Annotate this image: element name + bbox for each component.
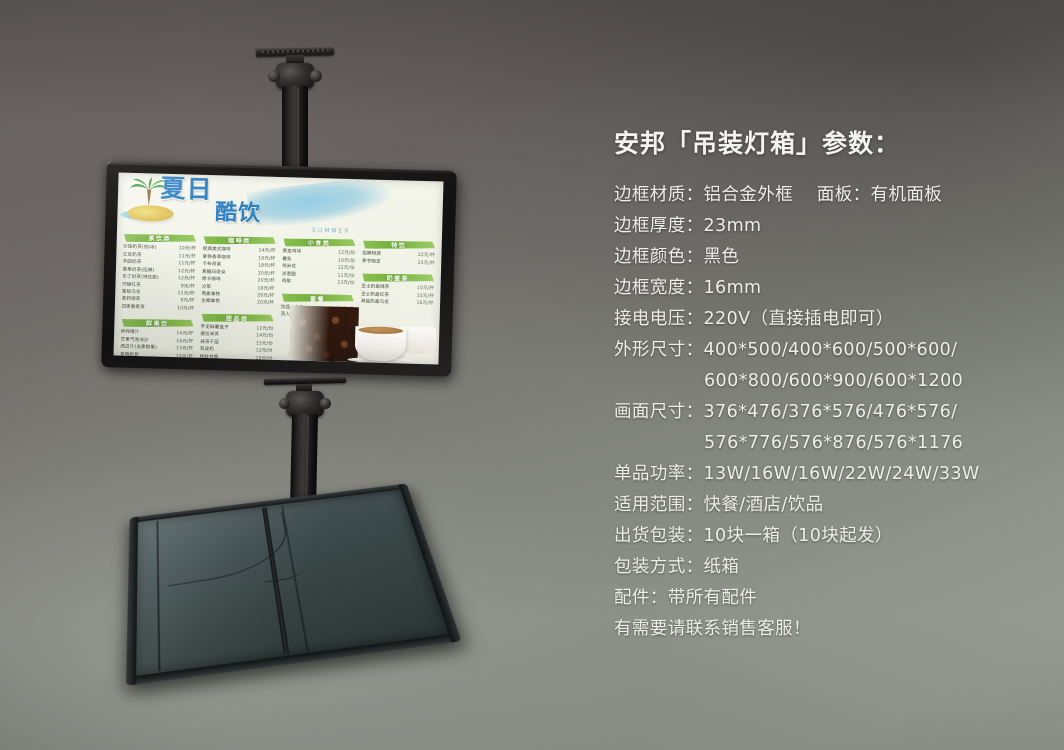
menu-item-name: 海盐奶盖乌龙 [361, 298, 389, 306]
pivot-knob-left-icon [268, 70, 280, 82]
menu-item-price: 20元/杯 [253, 300, 274, 308]
menu-category-label: 套餐 [310, 293, 325, 302]
spec-line: 边框厚度：23mm [614, 211, 1044, 242]
spec-line: 接电电压：220V（直接插电即可） [614, 304, 1044, 335]
photo-fade-overlay [289, 305, 440, 364]
spec-line: 边框宽度：16mm [614, 273, 1044, 304]
spec-line-list: 边框材质：铝合金外框 面板：有机面板边框厚度：23mm边框颜色：黑色边框宽度：1… [614, 180, 1044, 645]
panel-sheen [136, 489, 449, 675]
menu-item-list: 招牌特调22元/杯季节限定25元/杯 [362, 251, 435, 268]
menu-category-label: 茶饮类 [148, 234, 171, 244]
menu-item-price: 16元/杯 [412, 300, 433, 308]
menu-item-row: 生椰拿铁20元/杯 [201, 298, 274, 307]
menu-item-price: 10元/杯 [173, 305, 194, 313]
menu-item-list: 珍珠奶茶(热/冰)10元/杯红豆奶茶11元/杯芋圆奶茶11元/杯椰果奶茶(招牌)… [121, 244, 196, 313]
menu-title-accent: 酷饮 [215, 203, 262, 226]
menu-item-name: 四季春青茶 [121, 303, 145, 311]
water-splash-graphic [246, 175, 392, 229]
menu-category-header: 小食类 [283, 237, 356, 248]
pivot-knob-right-icon [310, 70, 322, 82]
menu-category: 茶饮类珍珠奶茶(热/冰)10元/杯红豆奶茶11元/杯芋圆奶茶11元/杯椰果奶茶(… [121, 233, 196, 313]
menu-subtitle: SUMMER [312, 226, 351, 234]
menu-category: 咖啡类经典美式咖啡14元/杯拿铁香草咖啡18元/杯卡布奇诺18元/杯焦糖玛奇朵2… [201, 235, 276, 308]
lower-pivot-knob-left-icon [279, 398, 290, 409]
lightbox-rear-panel [126, 483, 462, 685]
menu-category-label: 鲜果饮 [146, 319, 169, 329]
spec-line: 画面尺寸：376*476/376*576/476*576/ [614, 397, 1044, 428]
menu-category-label: 奶盖茶 [386, 273, 409, 283]
menu-item-row: 四季春青茶10元/杯 [121, 303, 194, 312]
spec-line: 适用范围：快餐/酒店/饮品 [614, 490, 1044, 521]
spec-line: 包装方式：纸箱 [614, 552, 1044, 583]
menu-category: 甜品类芋泥麻薯盒子12元/份提拉米苏14元/份抹茶千层15元/份双皮奶12元/份… [200, 313, 274, 363]
spec-line: 边框颜色：黑色 [614, 242, 1044, 273]
menu-item-row: 季节限定25元/杯 [362, 258, 435, 267]
menu-hero-banner: 夏日 酷饮 SUMMER [117, 172, 444, 243]
spec-line: 有需要请联系销售客服！ [614, 614, 1044, 645]
menu-title-main: 夏日 [160, 176, 213, 202]
menu-item-list: 黄金鸡块12元/份薯条10元/份鸡米花12元/份洋葱圈11元/份鸡柳13元/份 [281, 248, 355, 287]
menu-category-header: 套餐 [281, 293, 354, 304]
spec-title: 安邦「吊装灯箱」参数： [614, 124, 1044, 160]
menu-item-name: 生椰拿铁 [201, 298, 220, 306]
menu-item-list: 芝士奶盖绿茶15元/杯芝士奶盖红茶15元/杯海盐奶盖乌龙16元/杯 [361, 284, 434, 308]
menu-item-row: 海盐奶盖乌龙16元/杯 [361, 298, 434, 307]
menu-board-graphic: 夏日 酷饮 SUMMER 茶饮类珍珠奶茶(热/冰)10元/杯红豆奶茶11元/杯芋… [114, 172, 444, 364]
lightbox-front-panel: 夏日 酷饮 SUMMER 茶饮类珍珠奶茶(热/冰)10元/杯红豆奶茶11元/杯芋… [101, 161, 457, 377]
menu-column: 咖啡类经典美式咖啡14元/杯拿铁香草咖啡18元/杯卡布奇诺18元/杯焦糖玛奇朵2… [200, 235, 276, 358]
spec-line: 外形尺寸：400*500/400*600/500*600/ [614, 335, 1044, 366]
island-graphic [127, 205, 173, 222]
menu-category-label: 甜品类 [226, 313, 249, 323]
menu-category-header: 鲜果饮 [121, 318, 194, 329]
spec-line: 576*776/576*876/576*1176 [614, 428, 1044, 459]
menu-category: 奶盖茶芝士奶盖绿茶15元/杯芝士奶盖红茶15元/杯海盐奶盖乌龙16元/杯 [361, 273, 435, 308]
menu-category-label: 特饮 [391, 241, 406, 250]
product-photo-canvas: 夏日 酷饮 SUMMER 茶饮类珍珠奶茶(热/冰)10元/杯红豆奶茶11元/杯芋… [0, 0, 1064, 750]
panel-face [136, 489, 449, 675]
spec-line: 单品功率：13W/16W/16W/22W/24W/33W [614, 459, 1044, 490]
menu-column: 茶饮类珍珠奶茶(热/冰)10元/杯红豆奶茶11元/杯芋圆奶茶11元/杯椰果奶茶(… [120, 233, 196, 356]
menu-category-header: 咖啡类 [203, 235, 276, 246]
lower-pivot-knob-right-icon [320, 398, 331, 409]
menu-item-price: 25元/杯 [414, 260, 435, 268]
menu-category-label: 小食类 [308, 238, 331, 248]
menu-category-header: 茶饮类 [123, 233, 196, 244]
menu-item-name: 季节限定 [362, 258, 381, 266]
spec-line: 配件：带所有配件 [614, 583, 1044, 614]
menu-category-header: 奶盖茶 [361, 273, 434, 284]
specification-panel: 安邦「吊装灯箱」参数： 边框材质：铝合金外框 面板：有机面板边框厚度：23mm边… [614, 124, 1044, 645]
menu-item-list: 经典美式咖啡14元/杯拿铁香草咖啡18元/杯卡布奇诺18元/杯焦糖玛奇朵20元/… [201, 246, 275, 308]
menu-item-price: 13元/份 [333, 280, 354, 288]
menu-item-name: 鸡柳 [281, 278, 291, 286]
menu-category: 小食类黄金鸡块12元/份薯条10元/份鸡米花12元/份洋葱圈11元/份鸡柳13元… [281, 237, 355, 287]
menu-item-row: 鸡柳13元/份 [281, 278, 354, 287]
menu-item-list: 芋泥麻薯盒子12元/份提拉米苏14元/份抹茶千层15元/份双皮奶12元/份杨枝甘… [200, 324, 274, 363]
menu-category-label: 咖啡类 [228, 236, 251, 246]
coffee-photo [289, 305, 440, 364]
menu-category-header: 甜品类 [201, 313, 274, 324]
menu-category-header: 特饮 [362, 240, 435, 251]
spec-line: 600*800/600*900/600*1200 [614, 366, 1044, 397]
spec-line: 边框材质：铝合金外框 面板：有机面板 [614, 180, 1044, 211]
menu-category: 特饮招牌特调22元/杯季节限定25元/杯 [362, 240, 436, 268]
spec-line: 出货包装：10块一箱（10块起发） [614, 521, 1044, 552]
